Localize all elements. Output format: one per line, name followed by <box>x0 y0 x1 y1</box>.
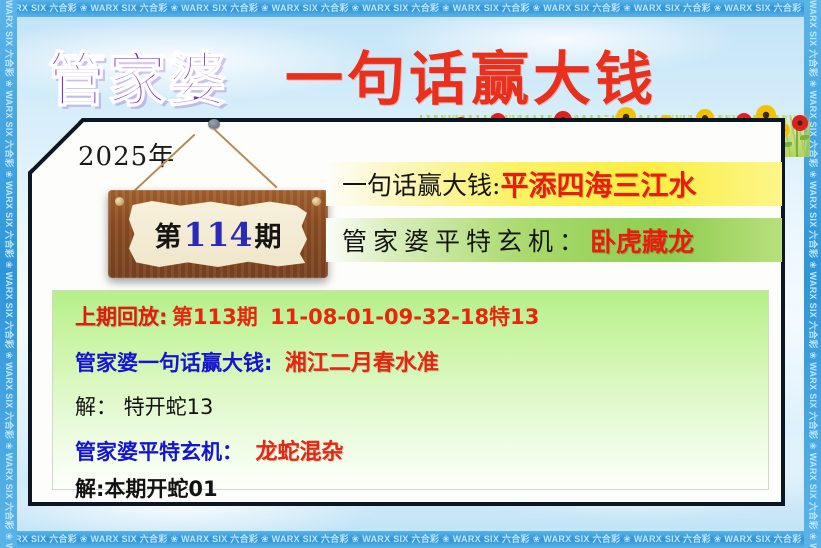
leaf-icon <box>800 135 809 140</box>
brand-title: 管家婆 <box>48 50 228 110</box>
main-panel: 2025年 第 114 期 一句话赢大钱: 平添四海三江水 <box>28 118 785 506</box>
content-green-box: 上期回放: 第113期 11-08-01-09-32-18特13 管家婆一句话赢… <box>52 290 769 490</box>
last-draw-issue: 第113期 <box>172 305 258 329</box>
sign-screw-right-icon <box>312 197 321 206</box>
secret-result-row: 管家婆平特玄机： 龙蛇混杂 <box>75 434 343 466</box>
phrase-result-label: 管家婆一句话赢大钱: <box>75 351 272 375</box>
banner-secret: 管家婆平特玄机： 卧虎藏龙 <box>326 218 782 262</box>
issue-number-text: 第 114 期 <box>129 201 307 267</box>
banner-phrase: 一句话赢大钱: 平添四海三江水 <box>326 162 782 206</box>
banner-secret-label: 管家婆平特玄机： <box>342 222 590 258</box>
last-draw-row: 上期回放: 第113期 11-08-01-09-32-18特13 <box>75 301 539 331</box>
sign-paper: 第 114 期 <box>129 201 307 267</box>
last-draw-numbers: 11-08-01-09-32-18特13 <box>270 305 539 329</box>
decorative-border-bottom: WARX SIX 六合彩 ❀ WARX SIX 六合彩 ❀ WARX SIX 六… <box>0 531 821 548</box>
issue-sign-board: 第 114 期 <box>108 190 328 278</box>
flower-icon <box>792 115 808 131</box>
phrase-result-value: 湘江二月春水准 <box>285 351 439 376</box>
secret-explanation-row: 解:本期开蛇01 <box>75 473 218 503</box>
page-root: WARX SIX 六合彩 ❀ WARX SIX 六合彩 ❀ WARX SIX 六… <box>0 0 821 548</box>
sign-rope-right <box>213 128 277 188</box>
phrase-result-row: 管家婆一句话赢大钱: 湘江二月春水准 <box>75 345 439 377</box>
decorative-border-top: WARX SIX 六合彩 ❀ WARX SIX 六合彩 ❀ WARX SIX 六… <box>0 0 821 17</box>
main-panel-inner: 2025年 第 114 期 一句话赢大钱: 平添四海三江水 <box>32 122 781 502</box>
issue-prefix: 第 <box>155 215 182 254</box>
panel-bevel-edge <box>28 117 86 175</box>
issue-suffix: 期 <box>254 215 281 254</box>
phrase-explanation-text: 解： 特开蛇13 <box>75 395 213 419</box>
phrase-explanation-row: 解： 特开蛇13 <box>75 391 213 421</box>
border-repeat-text: WARX SIX 六合彩 ❀ WARX SIX 六合彩 ❀ WARX SIX 六… <box>0 3 821 13</box>
banner-phrase-value: 平添四海三江水 <box>500 164 696 204</box>
border-repeat-text: WARX SIX 六合彩 ❀ WARX SIX 六合彩 ❀ WARX SIX 六… <box>0 534 821 544</box>
banner-secret-value: 卧虎藏龙 <box>590 222 694 259</box>
secret-result-value: 龙蛇混杂 <box>255 440 343 465</box>
secret-explanation-text: 解:本期开蛇01 <box>75 477 218 501</box>
last-draw-label: 上期回放: <box>75 305 167 329</box>
issue-number: 114 <box>182 215 255 254</box>
banner-phrase-label: 一句话赢大钱: <box>342 166 500 202</box>
secret-result-label: 管家婆平特玄机： <box>75 440 243 464</box>
sign-screw-left-icon <box>115 197 124 206</box>
